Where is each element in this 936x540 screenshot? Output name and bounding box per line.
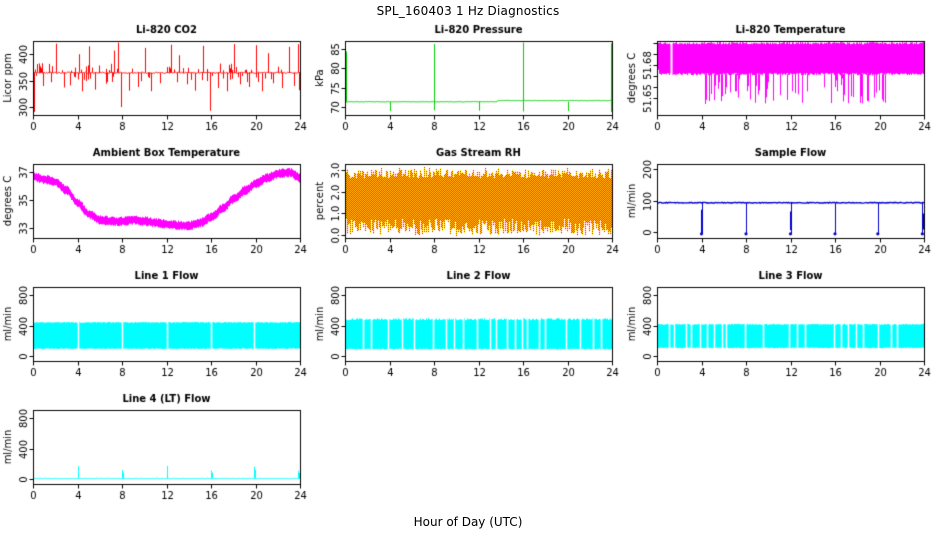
panel-line-1-flow <box>0 268 312 390</box>
plot-canvas-7 <box>0 268 312 390</box>
plot-canvas-9 <box>624 268 936 390</box>
panel-li820-temperature <box>624 22 936 144</box>
panel-li820-co2 <box>0 22 312 144</box>
plot-canvas-6 <box>624 145 936 267</box>
panel-sample-flow <box>624 145 936 267</box>
plot-canvas-2 <box>312 22 624 144</box>
plot-canvas-10 <box>0 391 312 513</box>
plot-canvas-4 <box>0 145 312 267</box>
diagnostics-figure: SPL_160403 1 Hz Diagnostics Hour of Day … <box>0 0 936 540</box>
plot-canvas-3 <box>624 22 936 144</box>
panel-line-2-flow <box>312 268 624 390</box>
plot-canvas-8 <box>312 268 624 390</box>
plot-canvas-5 <box>312 145 624 267</box>
plot-canvas-1 <box>0 22 312 144</box>
panel-line-4-lt-flow <box>0 391 312 513</box>
panel-ambient-box-temperature <box>0 145 312 267</box>
figure-title: SPL_160403 1 Hz Diagnostics <box>0 4 936 18</box>
x-axis-label: Hour of Day (UTC) <box>0 515 936 529</box>
panel-gas-stream-rh <box>312 145 624 267</box>
panel-line-3-flow <box>624 268 936 390</box>
panel-li820-pressure <box>312 22 624 144</box>
